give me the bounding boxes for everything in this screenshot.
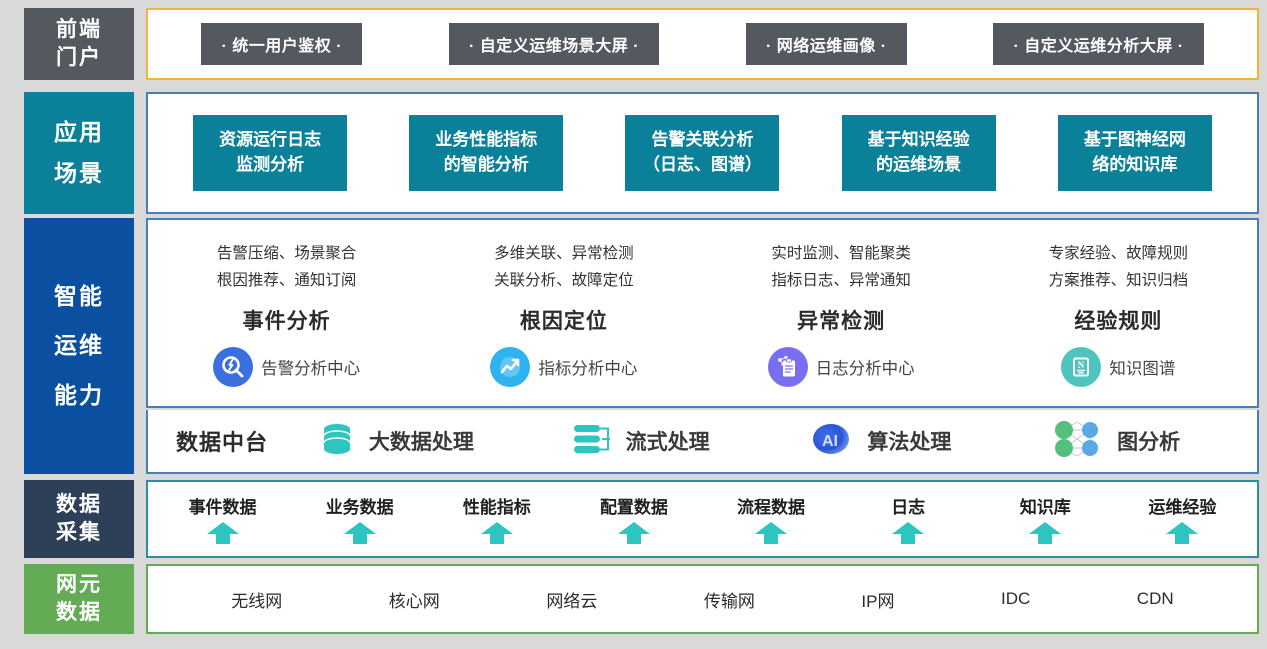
application-row: 应用 场景 资源运行日志 监测分析 业务性能指标 的智能分析 告警关联分析 （日…: [24, 92, 1259, 214]
collection-item-label: 运维经验: [1148, 493, 1216, 518]
app-card-line-2: 络的知识库: [1092, 153, 1177, 178]
portal-label-line-2: 门户: [56, 44, 102, 72]
collection-item-label: 事件数据: [189, 493, 257, 518]
capability-chip-knowledge-graph[interactable]: N 知识图谱: [1061, 347, 1175, 387]
app-card-knowledge-ops[interactable]: 基于知识经验 的运维场景: [842, 115, 996, 191]
capability-chip-metric-center[interactable]: 指标分析中心: [490, 347, 637, 387]
app-card-line-2: （日志、图谱）: [643, 153, 762, 178]
network-element-item-core[interactable]: 核心网: [389, 587, 440, 612]
capability-stack: 告警压缩、场景聚合 根因推荐、通知订阅 事件分析 告警分析中心: [146, 218, 1259, 474]
application-panel: 资源运行日志 监测分析 业务性能指标 的智能分析 告警关联分析 （日志、图谱） …: [146, 92, 1259, 214]
capability-bullet-1: 专家经验、故障规则: [1049, 240, 1189, 267]
capability-column-event-analysis: 告警压缩、场景聚合 根因推荐、通知订阅 事件分析 告警分析中心: [148, 220, 425, 406]
database-icon: [317, 421, 357, 462]
capability-chip-label: 日志分析中心: [816, 355, 915, 379]
up-arrow-icon: [206, 521, 240, 545]
log-analysis-icon: [768, 347, 808, 387]
app-card-line-1: 基于图神经网: [1084, 128, 1186, 153]
portal-label-line-1: 前端: [56, 16, 102, 44]
app-card-line-2: 的运维场景: [876, 153, 961, 178]
data-platform-strip: 数据中台: [146, 410, 1259, 474]
capability-bullet-1: 多维关联、异常检测: [494, 240, 634, 267]
portal-side-label: 前端 门户: [24, 8, 134, 80]
up-arrow-icon: [480, 521, 514, 545]
platform-item-label: 算法处理: [867, 426, 951, 456]
portal-chip-network-ops-profile[interactable]: · 网络运维画像 ·: [746, 23, 907, 65]
capability-chip-label: 告警分析中心: [261, 355, 360, 379]
capability-column-root-cause: 多维关联、异常检测 关联分析、故障定位 根因定位 指标分析中心: [425, 220, 702, 406]
collection-item-config-data[interactable]: 配置数据: [565, 482, 702, 556]
capability-chip-label: 指标分析中心: [538, 355, 637, 379]
app-card-resource-log[interactable]: 资源运行日志 监测分析: [193, 115, 347, 191]
collection-item-label: 流程数据: [737, 493, 805, 518]
capability-bullet-1: 实时监测、智能聚类: [771, 240, 911, 267]
alert-analysis-icon: [213, 347, 253, 387]
capability-label-line-2: 运维: [54, 330, 104, 361]
collection-side-label: 数据 采集: [24, 480, 134, 558]
application-side-label: 应用 场景: [24, 92, 134, 214]
collection-item-performance-kpi[interactable]: 性能指标: [428, 482, 565, 556]
app-card-line-1: 业务性能指标: [435, 128, 537, 153]
capability-panel: 告警压缩、场景聚合 根因推荐、通知订阅 事件分析 告警分析中心: [146, 218, 1259, 408]
capability-column-experience-rules: 专家经验、故障规则 方案推荐、知识归档 经验规则 N: [980, 220, 1257, 406]
platform-item-bigdata[interactable]: 大数据处理: [317, 421, 474, 462]
collection-item-label: 性能指标: [463, 493, 531, 518]
capability-bullet-1: 告警压缩、场景聚合: [217, 240, 357, 267]
collection-item-business-data[interactable]: 业务数据: [291, 482, 428, 556]
capability-bullets: 告警压缩、场景聚合 根因推荐、通知订阅: [217, 240, 357, 294]
graph-network-icon: [1049, 418, 1105, 465]
architecture-diagram: 前端 门户 · 统一用户鉴权 · · 自定义运维场景大屏 · · 网络运维画像 …: [0, 0, 1267, 649]
ai-icon: AI: [807, 421, 855, 462]
collection-item-label: 业务数据: [326, 493, 394, 518]
application-label-line-2: 场景: [54, 158, 104, 189]
portal-chip-custom-analysis-screen[interactable]: · 自定义运维分析大屏 ·: [993, 23, 1203, 65]
up-arrow-icon: [617, 521, 651, 545]
capability-title: 异常检测: [797, 305, 885, 335]
app-card-line-1: 资源运行日志: [219, 128, 321, 153]
application-label-line-1: 应用: [54, 117, 104, 148]
capability-bullets: 多维关联、异常检测 关联分析、故障定位: [494, 240, 634, 294]
app-card-gnn-knowledge-base[interactable]: 基于图神经网 络的知识库: [1058, 115, 1212, 191]
up-arrow-icon: [891, 521, 925, 545]
capability-column-anomaly-detection: 实时监测、智能聚类 指标日志、异常通知 异常检测: [703, 220, 980, 406]
platform-item-label: 大数据处理: [369, 426, 474, 456]
svg-text:AI: AI: [822, 433, 838, 450]
metric-analysis-icon: [490, 347, 530, 387]
app-card-line-2: 的智能分析: [444, 153, 529, 178]
data-platform-label: 数据中台: [176, 425, 268, 457]
svg-text:N: N: [1078, 360, 1085, 370]
platform-item-label: 图分析: [1117, 426, 1180, 456]
portal-row: 前端 门户 · 统一用户鉴权 · · 自定义运维场景大屏 · · 网络运维画像 …: [24, 8, 1259, 80]
up-arrow-icon: [1165, 521, 1199, 545]
portal-panel: · 统一用户鉴权 · · 自定义运维场景大屏 · · 网络运维画像 · · 自定…: [146, 8, 1259, 80]
capability-row: 智能 运维 能力 告警压缩、场景聚合 根因推荐、通知订阅 事件分析: [24, 218, 1259, 474]
capability-chip-log-center[interactable]: 日志分析中心: [768, 347, 915, 387]
platform-item-stream[interactable]: 流式处理: [572, 421, 710, 462]
network-element-item-network-cloud[interactable]: 网络云: [546, 587, 597, 612]
network-element-row: 网元 数据 无线网 核心网 网络云 传输网 IP网 IDC CDN: [24, 564, 1259, 634]
collection-item-event-data[interactable]: 事件数据: [154, 482, 291, 556]
platform-item-graph-analysis[interactable]: 图分析: [1049, 418, 1180, 465]
network-element-label-line-1: 网元: [56, 571, 102, 599]
platform-item-label: 流式处理: [626, 426, 710, 456]
capability-title: 事件分析: [243, 305, 331, 335]
capability-bullets: 专家经验、故障规则 方案推荐、知识归档: [1049, 240, 1189, 294]
collection-item-knowledge-base[interactable]: 知识库: [977, 482, 1114, 556]
capability-title: 根因定位: [520, 305, 608, 335]
capability-side-label: 智能 运维 能力: [24, 218, 134, 474]
collection-item-label: 知识库: [1020, 493, 1071, 518]
collection-panel: 事件数据 业务数据 性能指标 配置数据: [146, 480, 1259, 558]
stream-icon: [572, 421, 614, 462]
knowledge-graph-icon: N: [1061, 347, 1101, 387]
network-element-item-cdn[interactable]: CDN: [1137, 589, 1174, 609]
app-card-line-1: 基于知识经验: [868, 128, 970, 153]
platform-item-algorithm[interactable]: AI 算法处理: [807, 421, 951, 462]
up-arrow-icon: [754, 521, 788, 545]
app-card-line-2: 监测分析: [236, 153, 304, 178]
capability-bullet-2: 根因推荐、通知订阅: [217, 267, 357, 294]
network-element-item-idc[interactable]: IDC: [1001, 589, 1030, 609]
capability-label-line-1: 智能: [54, 281, 104, 312]
capability-chip-label: 知识图谱: [1109, 355, 1175, 379]
app-card-business-kpi[interactable]: 业务性能指标 的智能分析: [409, 115, 563, 191]
collection-item-ops-experience[interactable]: 运维经验: [1114, 482, 1251, 556]
app-card-line-1: 告警关联分析: [651, 128, 753, 153]
network-element-panel: 无线网 核心网 网络云 传输网 IP网 IDC CDN: [146, 564, 1259, 634]
capability-title: 经验规则: [1074, 305, 1162, 335]
network-element-item-transport[interactable]: 传输网: [704, 587, 755, 612]
collection-item-label: 日志: [891, 493, 925, 518]
data-platform-items: 大数据处理 流式处理: [268, 418, 1229, 465]
up-arrow-icon: [1028, 521, 1062, 545]
network-element-item-wireless[interactable]: 无线网: [231, 587, 282, 612]
collection-label-line-1: 数据: [56, 491, 102, 519]
capability-bullet-2: 关联分析、故障定位: [494, 267, 634, 294]
portal-chip-auth[interactable]: · 统一用户鉴权 ·: [201, 23, 362, 65]
network-element-label-line-2: 数据: [56, 599, 102, 627]
collection-item-label: 配置数据: [600, 493, 668, 518]
collection-item-logs[interactable]: 日志: [840, 482, 977, 556]
network-element-side-label: 网元 数据: [24, 564, 134, 634]
up-arrow-icon: [343, 521, 377, 545]
app-card-alarm-correlation[interactable]: 告警关联分析 （日志、图谱）: [625, 115, 779, 191]
collection-item-process-data[interactable]: 流程数据: [703, 482, 840, 556]
capability-bullet-2: 方案推荐、知识归档: [1049, 267, 1189, 294]
collection-row: 数据 采集 事件数据 业务数据 性能指标: [24, 480, 1259, 558]
capability-bullets: 实时监测、智能聚类 指标日志、异常通知: [771, 240, 911, 294]
portal-chip-custom-ops-screen[interactable]: · 自定义运维场景大屏 ·: [449, 23, 659, 65]
capability-bullet-2: 指标日志、异常通知: [771, 267, 911, 294]
capability-label-line-3: 能力: [54, 380, 104, 411]
collection-label-line-2: 采集: [56, 519, 102, 547]
capability-chip-alert-center[interactable]: 告警分析中心: [213, 347, 360, 387]
network-element-item-ip[interactable]: IP网: [861, 587, 894, 612]
